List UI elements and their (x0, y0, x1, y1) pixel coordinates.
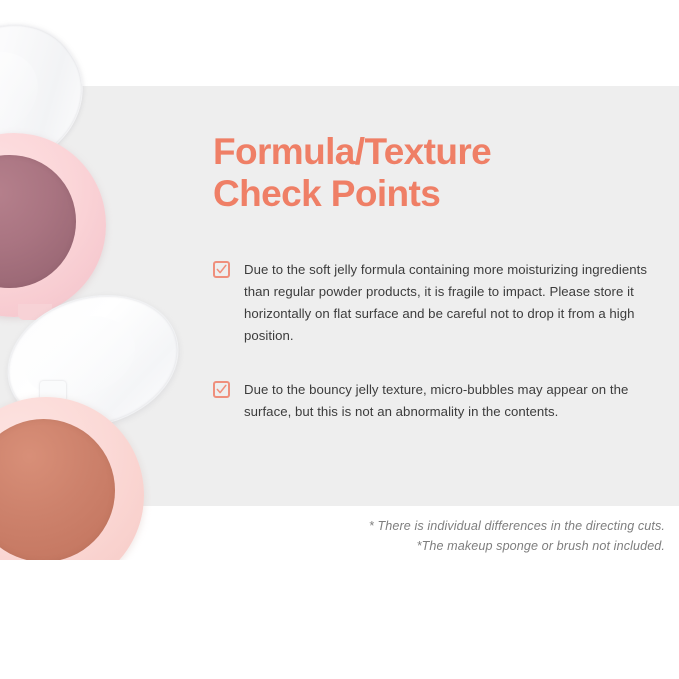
product-image-group (0, 0, 215, 560)
page-title: Formula/Texture Check Points (213, 131, 665, 215)
footnote-line: * There is individual differences in the… (213, 516, 665, 536)
check-point-text: Due to the bouncy jelly texture, micro-b… (244, 379, 665, 423)
list-item: Due to the soft jelly formula containing… (213, 259, 665, 347)
content-column: Formula/Texture Check Points Due to the … (213, 131, 665, 423)
list-item: Due to the bouncy jelly texture, micro-b… (213, 379, 665, 423)
blush-pan (0, 419, 115, 560)
blush-compact-coral (0, 397, 144, 560)
check-points-list: Due to the soft jelly formula containing… (213, 259, 665, 422)
compact-case (0, 397, 144, 560)
blush-compact-mauve (0, 133, 106, 317)
checkbox-checked-icon (213, 381, 230, 398)
product-detail-panel: Formula/Texture Check Points Due to the … (0, 0, 679, 679)
check-point-text: Due to the soft jelly formula containing… (244, 259, 665, 347)
footnote-line: *The makeup sponge or brush not included… (213, 536, 665, 556)
footnote-group: * There is individual differences in the… (213, 516, 665, 557)
compact-case (0, 133, 106, 317)
blush-pan (0, 155, 76, 287)
checkbox-checked-icon (213, 261, 230, 278)
